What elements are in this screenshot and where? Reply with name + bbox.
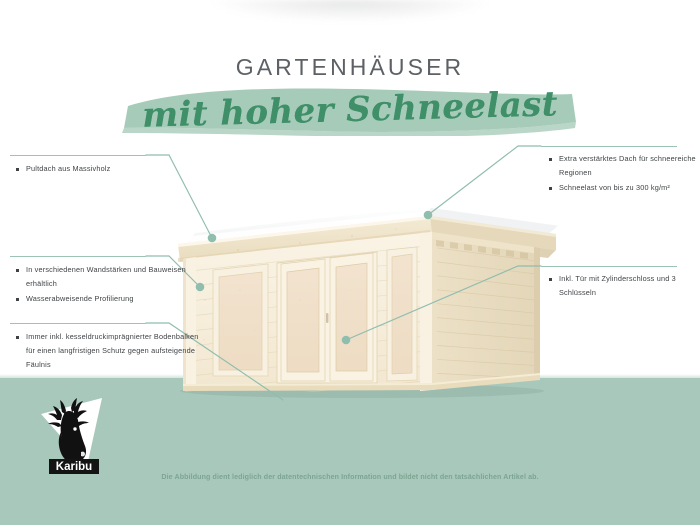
disclaimer-text: Die Abbildung dient lediglich der datent… [0,473,700,481]
connector-dot-snowload [424,211,433,220]
connector-dot-roof [208,234,217,243]
annotation-walls: In verschiedenen Wandstärken und Bauweis… [16,263,202,308]
annotation-rule-roof [10,155,146,156]
page-title: GARTENHÄUSER [0,54,700,81]
annotation-item: In verschiedenen Wandstärken und Bauweis… [16,263,202,291]
annotation-rule-snowload [541,146,677,147]
brand-name: Karibu [56,461,92,473]
annotation-item: Wasserabweisende Profilierung [16,292,202,306]
annotation-item: Schneelast von bis zu 300 kg/m² [549,181,699,195]
annotation-item: Immer inkl. kesseldruckimprägnierter Bod… [16,330,206,373]
annotation-door: Inkl. Tür mit Zylinderschloss und 3 Schl… [549,272,699,301]
annotation-roof: Pultdach aus Massivholz [16,162,196,177]
poster-canvas: GARTENHÄUSER mit hoher Schneelast Pultda… [0,0,700,525]
annotation-floor: Immer inkl. kesseldruckimprägnierter Bod… [16,330,206,374]
annotation-item: Extra verstärktes Dach für schneereiche … [549,152,699,180]
annotation-rule-floor [10,323,146,324]
annotation-rule-walls [10,256,146,257]
subtitle-banner: mit hoher Schneelast [120,84,580,136]
annotation-rule-door [541,266,677,267]
connector-dots [196,211,433,345]
annotation-item: Inkl. Tür mit Zylinderschloss und 3 Schl… [549,272,699,300]
connector-door [346,266,541,340]
karibu-logo[interactable]: Karibu [18,396,114,484]
annotation-item: Pultdach aus Massivholz [16,162,196,176]
deer-eye [73,427,76,430]
connector-dot-door [342,336,351,345]
annotation-snowload: Extra verstärktes Dach für schneereiche … [549,152,699,197]
connector-snowload [428,146,541,215]
